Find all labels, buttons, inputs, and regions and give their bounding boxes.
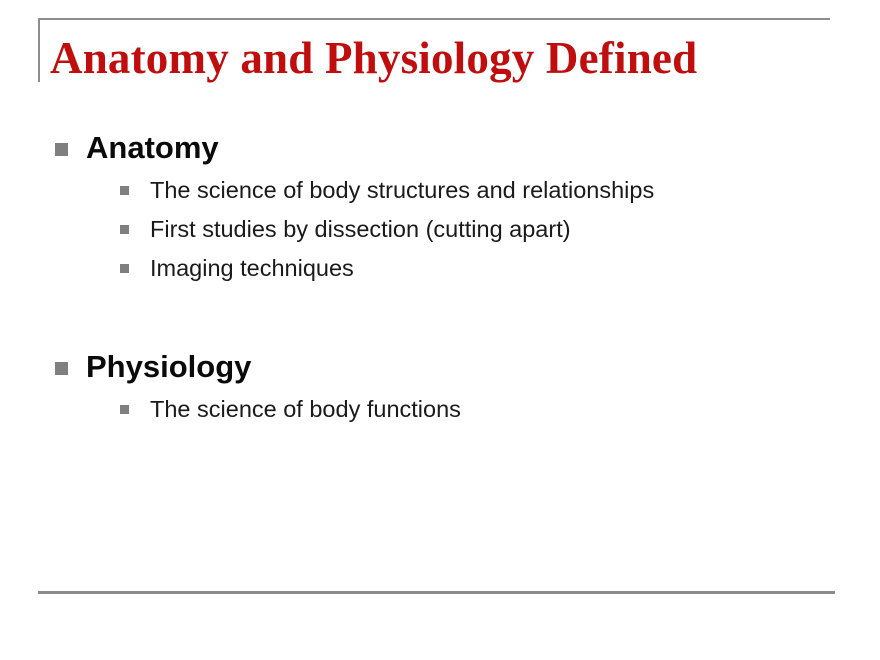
square-subbullet-icon (120, 264, 129, 273)
square-subbullet-icon (120, 225, 129, 234)
top-rule-divider (38, 18, 830, 20)
bullet-level2-label: The science of body functions (150, 396, 461, 422)
square-bullet-icon (55, 143, 68, 156)
slide-title: Anatomy and Physiology Defined (50, 32, 850, 84)
bullet-level1-label: Physiology (86, 349, 251, 384)
square-subbullet-icon (120, 405, 129, 414)
bullet-level1-label: Anatomy (86, 130, 219, 165)
bullet-level2-label: Imaging techniques (150, 255, 354, 281)
square-subbullet-icon (120, 186, 129, 195)
bullet-level2-label: First studies by dissection (cutting apa… (150, 216, 571, 242)
bullet-level1-anatomy: Anatomy (0, 126, 880, 170)
square-bullet-icon (55, 362, 68, 375)
bullet-level2-item: The science of body structures and relat… (0, 171, 880, 210)
bottom-rule-divider (38, 591, 835, 594)
bullet-level2-label: The science of body structures and relat… (150, 177, 654, 203)
group-spacer (0, 288, 880, 345)
bullet-level2-item: First studies by dissection (cutting apa… (0, 210, 880, 249)
slide-canvas: Anatomy and Physiology Defined Anatomy T… (0, 0, 880, 660)
left-rule-divider (38, 18, 40, 82)
bullet-level2-item: Imaging techniques (0, 249, 880, 288)
slide-body-content: Anatomy The science of body structures a… (0, 126, 880, 429)
bullet-level2-item: The science of body functions (0, 390, 880, 429)
bullet-level1-physiology: Physiology (0, 345, 880, 389)
